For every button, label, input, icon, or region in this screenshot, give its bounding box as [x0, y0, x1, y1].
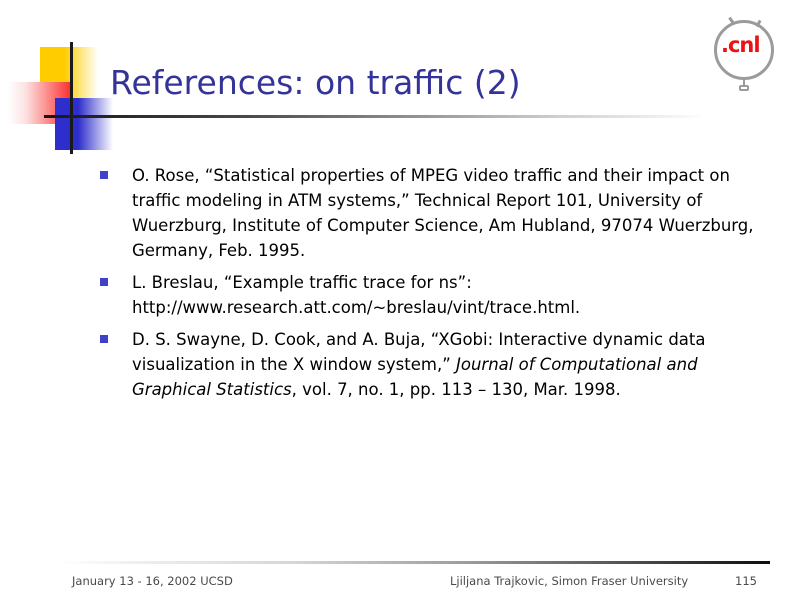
- footer-date: January 13 - 16, 2002 UCSD: [72, 574, 233, 588]
- reference-list: O. Rose, “Statistical properties of MPEG…: [100, 163, 760, 409]
- bullet-square-icon: [100, 278, 108, 286]
- footer-rule: [60, 561, 770, 564]
- reference-text-1: O. Rose, “Statistical properties of MPEG…: [132, 163, 760, 263]
- reference-part: L. Breslau, “Example traffic trace for n…: [132, 273, 580, 317]
- bullet-square-icon: [100, 171, 108, 179]
- logo-text: .cnl: [721, 35, 760, 56]
- reference-part: , vol. 7, no. 1, pp. 113 – 130, Mar. 199…: [292, 380, 621, 399]
- cnl-logo: .cnl: [710, 18, 782, 96]
- list-item: L. Breslau, “Example traffic trace for n…: [100, 270, 760, 320]
- reference-text-2: L. Breslau, “Example traffic trace for n…: [132, 270, 760, 320]
- page-title: References: on traffic (2): [110, 63, 521, 102]
- list-item: O. Rose, “Statistical properties of MPEG…: [100, 163, 760, 263]
- footer-page-number: 115: [735, 574, 757, 588]
- reference-text-3: D. S. Swayne, D. Cook, and A. Buja, “XGo…: [132, 327, 760, 402]
- slide-canvas: .cnl References: on traffic (2) O. Rose,…: [0, 0, 800, 600]
- reference-part: O. Rose, “Statistical properties of MPEG…: [132, 166, 754, 260]
- decoration-square-blue: [55, 98, 113, 150]
- logo-base-icon: [739, 85, 749, 91]
- slide-footer: January 13 - 16, 2002 UCSD Ljiljana Traj…: [0, 572, 800, 594]
- title-underline-rule: [44, 115, 704, 118]
- decoration-vertical-line: [70, 42, 73, 154]
- bullet-square-icon: [100, 335, 108, 343]
- list-item: D. S. Swayne, D. Cook, and A. Buja, “XGo…: [100, 327, 760, 402]
- footer-author: Ljiljana Trajkovic, Simon Fraser Univers…: [450, 574, 688, 588]
